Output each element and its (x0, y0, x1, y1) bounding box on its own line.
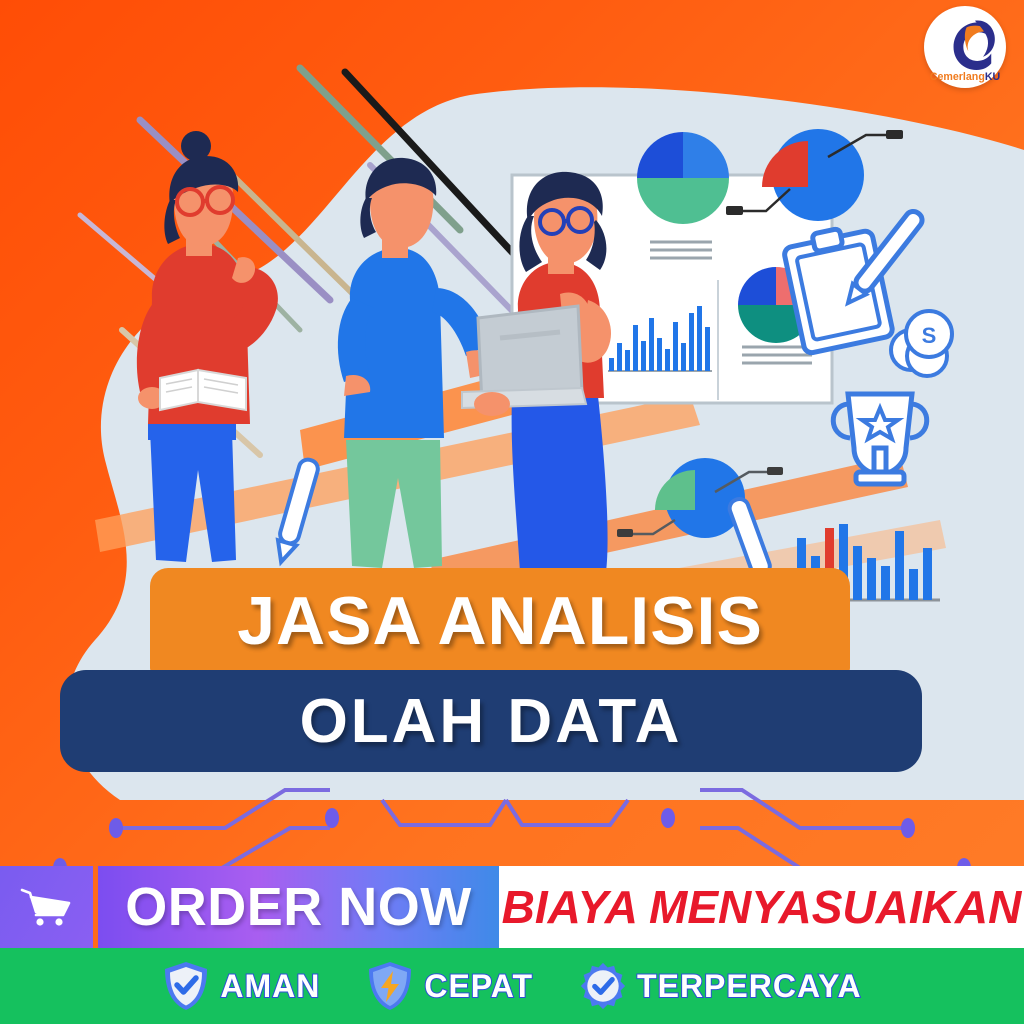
logo-text-part2: KU (985, 71, 1001, 83)
order-now-label: ORDER NOW (125, 876, 471, 938)
order-now-button[interactable]: ORDER NOW (98, 866, 499, 948)
price-label: BIAYA MENYASUAIKAN (502, 880, 1022, 934)
logo-text-part1: CemerlangKU (930, 71, 1001, 83)
trust-item-cepat: CEPAT (366, 960, 533, 1012)
trust-bar: AMAN CEPAT TERPERCAYA (0, 948, 1024, 1024)
cemerlangku-logo[interactable]: CemerlangKU (924, 6, 1006, 88)
price-note: BIAYA MENYASUAIKAN (499, 866, 1024, 948)
circuit-trace-decoration (0, 770, 1024, 870)
pen-icon-left (272, 458, 319, 565)
headline-line2: OLAH DATA (300, 686, 683, 757)
shield-check-icon (162, 960, 210, 1012)
cart-button[interactable] (0, 866, 98, 948)
headline-line1: JASA ANALISIS (237, 582, 763, 660)
trust-label-aman: AMAN (220, 968, 320, 1005)
trust-item-aman: AMAN (162, 960, 320, 1012)
verified-badge-icon (579, 960, 627, 1012)
trust-item-terpercaya: TERPERCAYA (579, 960, 862, 1012)
shield-lightning-icon (366, 960, 414, 1012)
whiteboard-pie-top (637, 132, 729, 224)
headline-block: JASA ANALISIS OLAH DATA (0, 560, 1024, 780)
headline-line1-band: JASA ANALISIS (150, 568, 850, 674)
coins-icon: S (891, 311, 952, 376)
person-red-sweater (137, 131, 278, 562)
svg-text:S: S (922, 323, 937, 348)
trophy-icon (833, 394, 927, 484)
shopping-cart-icon (19, 885, 75, 929)
trust-label-terpercaya: TERPERCAYA (637, 968, 862, 1005)
poster-canvas: S (0, 0, 1024, 1024)
order-bar: ORDER NOW BIAYA MENYASUAIKAN (0, 866, 1024, 948)
floating-pie-green (617, 458, 783, 538)
laptop (462, 306, 586, 408)
headline-line2-band: OLAH DATA (60, 670, 922, 772)
person-woman-analyst (462, 172, 611, 572)
trust-label-cepat: CEPAT (424, 968, 533, 1005)
person-blue-tshirt (338, 158, 498, 568)
